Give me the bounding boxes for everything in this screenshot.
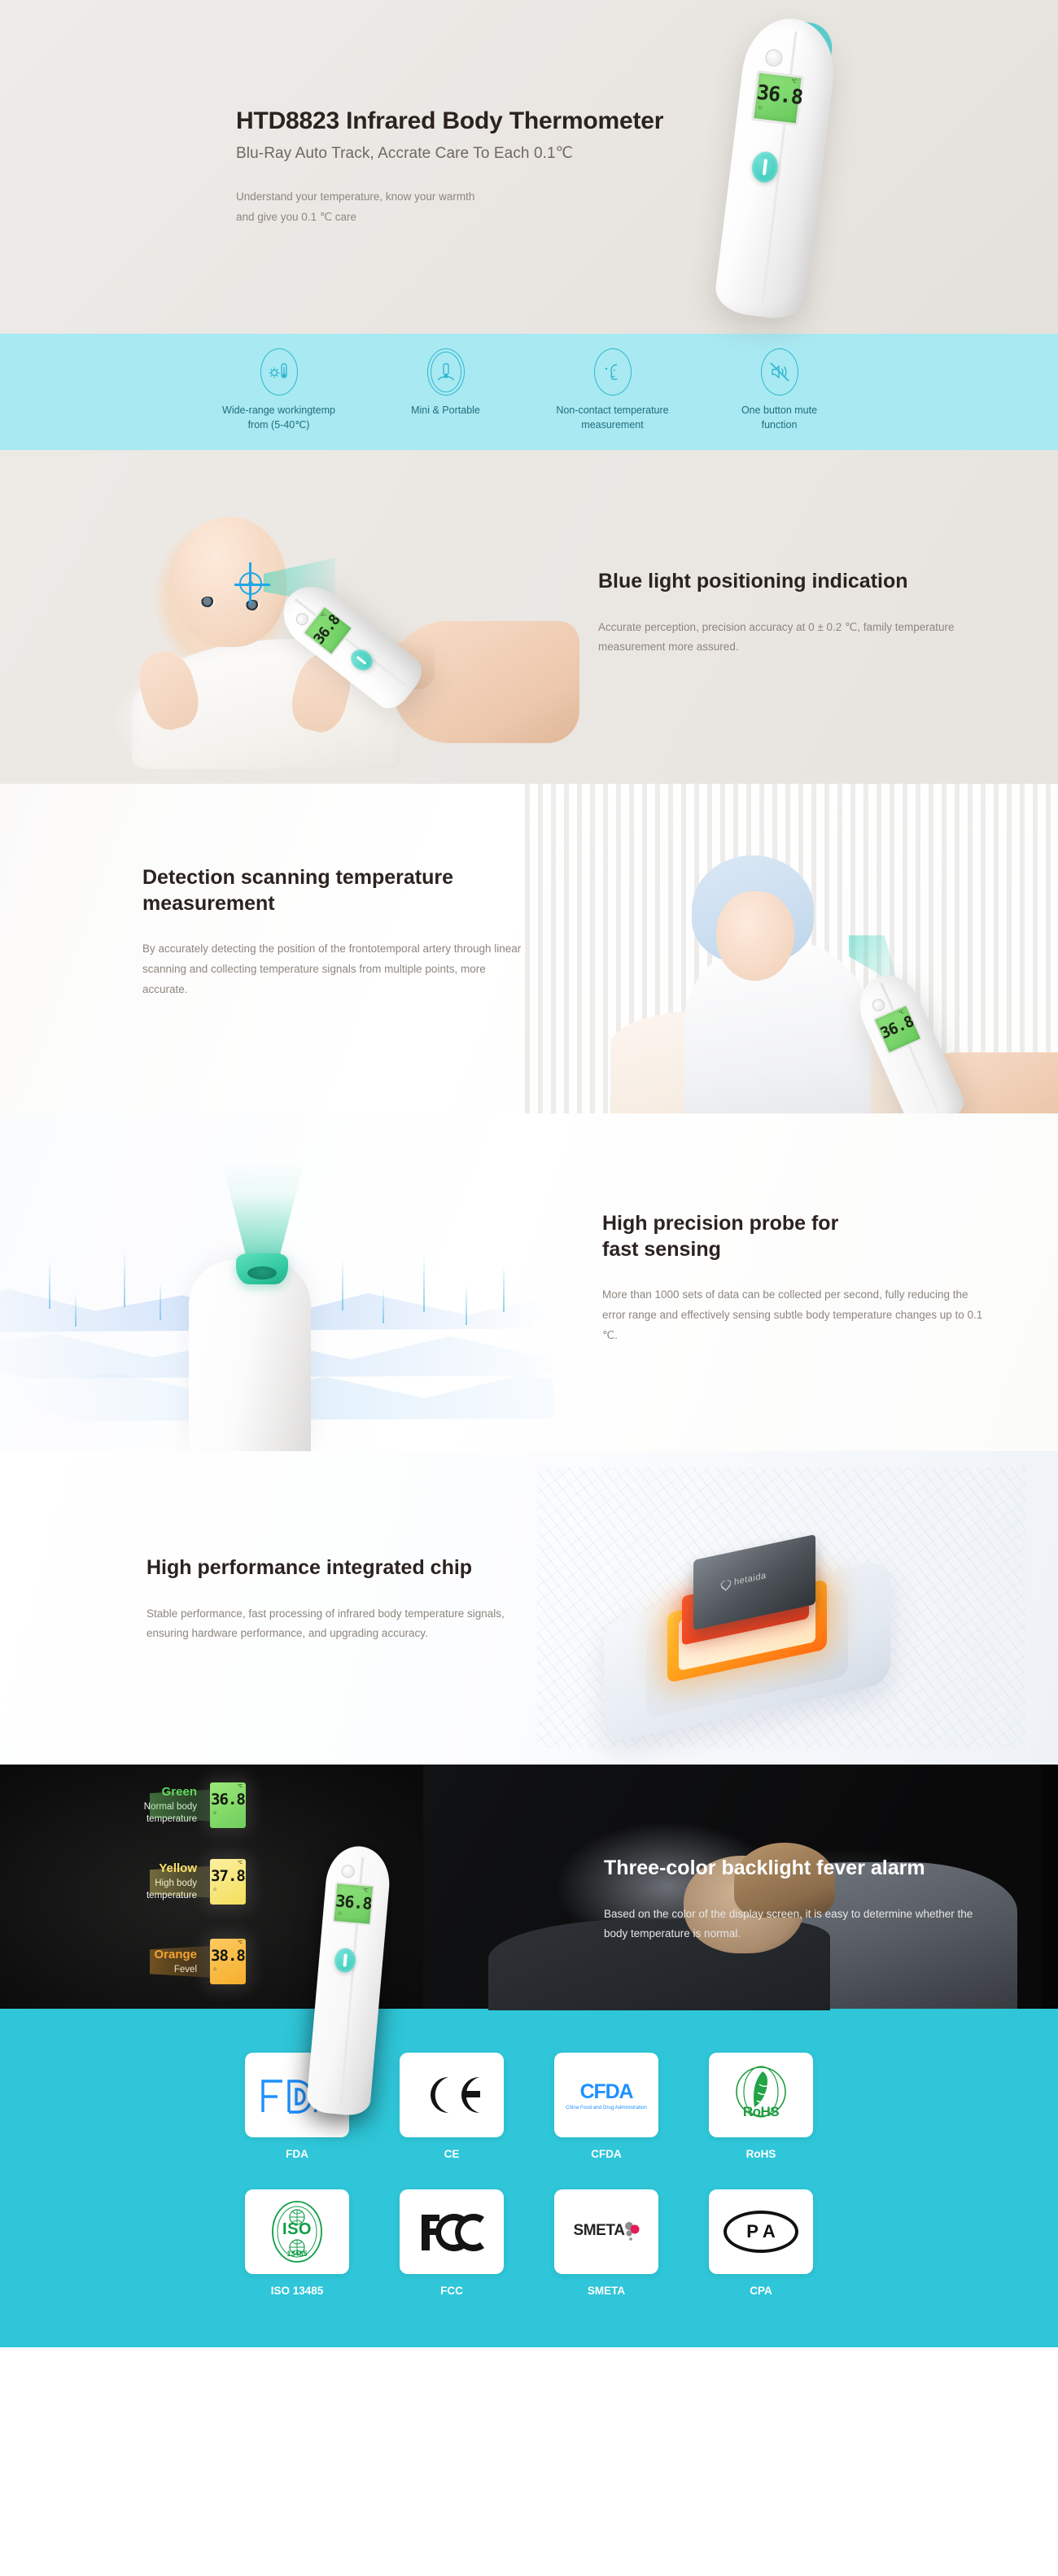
face-scan-icon: [594, 348, 632, 396]
cfda-logo-subtext: China Food and Drug Administration: [566, 2105, 647, 2110]
heading-line-1: High precision probe for: [602, 1211, 985, 1236]
page-title: HTD8823 Infrared Body Thermometer: [236, 107, 663, 135]
alarm-level-list: Green Normal body temperature ℃ 36.8 ☺ Y…: [114, 1779, 301, 2001]
detection-scan-copy: Detection scanning temperature measureme…: [142, 865, 533, 999]
hero-copy: HTD8823 Infrared Body Thermometer Blu-Ra…: [236, 107, 663, 228]
hand-device-icon: [427, 348, 465, 396]
section-detection-scanning: ℃ 36.8 Detection scanning temperature me…: [0, 784, 1058, 1113]
hero-desc-line-2: and give you 0.1 ℃ care: [236, 208, 663, 228]
lcd-unit-label: ℃: [210, 1939, 246, 1945]
baby-measurement-photo: ℃ 36.8: [50, 476, 539, 761]
cfda-logo-icon: CFDA China Food and Drug Administration: [566, 2080, 647, 2110]
integrated-chip-copy: High performance integrated chip Stable …: [146, 1555, 505, 1644]
section-heading: High performance integrated chip: [146, 1555, 505, 1581]
particle: [466, 1284, 467, 1325]
certification-name: SMETA: [554, 2285, 658, 2297]
certification-item-ce: CE: [400, 2053, 504, 2160]
feature-label: One button mute function: [696, 403, 863, 432]
section-certifications: FDA CE: [0, 2009, 1058, 2347]
feature-label: Non-contact temperature measurement: [529, 403, 696, 432]
certification-item-cfda: CFDA China Food and Drug Administration …: [554, 2053, 658, 2160]
feature-one-button-mute: One button mute function: [696, 348, 863, 432]
feature-label: Wide-range workingtemp from (5-40℃): [195, 403, 362, 432]
particle: [160, 1281, 161, 1320]
certification-name: CFDA: [554, 2148, 658, 2160]
certification-logo-card: ISO 13485: [245, 2189, 349, 2274]
thermometer-sun-icon: [260, 348, 298, 396]
smeta-logo-text: SMETA: [573, 2222, 624, 2240]
alarm-lcd-screen: ℃ 36.8 ☺: [210, 1782, 246, 1828]
lcd-mode-icon: ☺: [210, 1887, 246, 1892]
certification-name: CE: [400, 2148, 504, 2160]
thermometer-lcd-screen: ℃ 36.8 ☺: [332, 1882, 374, 1926]
alarm-lcd-screen: ℃ 37.8 ☺: [210, 1859, 246, 1905]
probe-sensor-head: [236, 1253, 288, 1284]
particle: [342, 1258, 343, 1310]
cfda-logo-text: CFDA: [566, 2080, 647, 2104]
lcd-unit-label: ℃: [210, 1859, 246, 1865]
certification-logo-card: CFDA China Food and Drug Administration: [554, 2053, 658, 2137]
heading-line-2: measurement: [142, 891, 533, 916]
blue-light-copy: Blue light positioning indication Accura…: [598, 569, 981, 658]
alarm-level-green: Green Normal body temperature ℃ 36.8 ☺: [114, 1782, 246, 1828]
section-body: Stable performance, fast processing of i…: [146, 1604, 505, 1645]
iso-logo-icon: ISO 13485: [262, 2199, 332, 2264]
iso-logo-text: ISO: [262, 2220, 332, 2239]
certification-name: FCC: [400, 2285, 504, 2297]
certification-item-cpa: P A CPA: [709, 2189, 813, 2297]
hero-thermometer-image: ℃ 36.8 ☺: [713, 14, 840, 322]
heading-line-2: fast sensing: [602, 1237, 985, 1262]
particle: [75, 1292, 77, 1327]
section-fever-alarm: Green Normal body temperature ℃ 36.8 ☺ Y…: [0, 1765, 1058, 2009]
fcc-logo-icon: [418, 2210, 485, 2254]
alarm-level-orange: Orange Fevel ℃ 38.8 ☺: [114, 1939, 246, 1984]
certification-logo-card: RoHS: [709, 2053, 813, 2137]
feature-label: Mini & Portable: [362, 403, 529, 418]
lcd-mode-icon: ☺: [210, 1967, 246, 1972]
rohs-logo-text: RoHS: [727, 2104, 795, 2120]
section-blue-light-positioning: ℃ 36.8 Blue light positioning indication…: [0, 450, 1058, 784]
certification-item-fcc: FCC: [400, 2189, 504, 2297]
alarm-lcd-screen: ℃ 38.8 ☺: [210, 1939, 246, 1984]
adult-hand: [392, 621, 579, 743]
iso-logo-subtext: 13485: [262, 2250, 332, 2258]
ce-logo-icon: [422, 2074, 481, 2116]
lcd-temperature-value: 36.8: [210, 1789, 246, 1811]
probe-device-body: [189, 1260, 311, 1451]
hero-description: Understand your temperature, know your w…: [236, 187, 663, 228]
smeta-logo-dots: [623, 2222, 640, 2241]
certification-name: ISO 13485: [245, 2285, 349, 2297]
certification-name: RoHS: [709, 2148, 813, 2160]
certification-logo-card: [400, 2189, 504, 2274]
lcd-temperature-value: 37.8: [210, 1865, 246, 1887]
particle: [383, 1288, 384, 1323]
section-heading: Blue light positioning indication: [598, 569, 981, 594]
certification-name: CPA: [709, 2285, 813, 2297]
heart-icon: [721, 1579, 731, 1590]
chip-logo-text: hetaida: [734, 1571, 767, 1587]
certification-logo-card: P A: [709, 2189, 813, 2274]
pa-logo-icon: P A: [724, 2211, 798, 2253]
section-body: Based on the color of the display screen…: [604, 1905, 986, 1945]
certification-item-iso: ISO 13485 ISO 13485: [245, 2189, 349, 2297]
thermometer-lcd-screen: ℃ 36.8 ☺: [751, 70, 804, 126]
section-body: More than 1000 sets of data can be colle…: [602, 1285, 985, 1346]
product-detail-page: HTD8823 Infrared Body Thermometer Blu-Ra…: [0, 0, 1058, 2347]
certification-item-smeta: SMETA SMETA: [554, 2189, 658, 2297]
toddler-face: [716, 891, 794, 981]
hero-subtitle: Blu-Ray Auto Track, Accrate Care To Each…: [236, 144, 663, 163]
pa-logo-text: P A: [746, 2221, 775, 2242]
precision-probe-copy: High precision probe for fast sensing Mo…: [602, 1211, 985, 1345]
section-heading: High precision probe for fast sensing: [602, 1211, 985, 1262]
section-heading: Detection scanning temperature measureme…: [142, 865, 533, 916]
feature-mini-portable: Mini & Portable: [362, 348, 529, 432]
section-body: By accurately detecting the position of …: [142, 939, 533, 1000]
smeta-logo-icon: SMETA: [573, 2222, 639, 2241]
chip-brand-logo: hetaida: [721, 1571, 767, 1590]
hero-desc-line-1: Understand your temperature, know your w…: [236, 187, 663, 208]
chip-illustration: hetaida: [586, 1526, 912, 1730]
particle: [423, 1253, 425, 1312]
section-heading: Three-color backlight fever alarm: [604, 1856, 986, 1881]
lcd-unit-label: ℃: [210, 1782, 246, 1789]
lcd-temperature-value: 38.8: [210, 1945, 246, 1967]
section-precision-probe: High precision probe for fast sensing Mo…: [0, 1113, 1058, 1451]
toddler-measurement-photo: ℃ 36.8: [525, 784, 1058, 1113]
lcd-mode-icon: ☺: [210, 1811, 246, 1816]
alarm-level-yellow: Yellow High body temperature ℃ 37.8 ☺: [114, 1859, 246, 1905]
certification-name: FDA: [245, 2148, 349, 2160]
mute-speaker-icon: [761, 348, 798, 396]
hero-section: HTD8823 Infrared Body Thermometer Blu-Ra…: [0, 0, 1058, 334]
certification-item-rohs: RoHS RoHS: [709, 2053, 813, 2160]
section-integrated-chip: hetaida High performance integrated chip…: [0, 1451, 1058, 1765]
heading-line-1: Detection scanning temperature: [142, 865, 533, 890]
feature-wide-range-temp: Wide-range workingtemp from (5-40℃): [195, 348, 362, 432]
feature-non-contact: Non-contact temperature measurement: [529, 348, 696, 432]
rohs-logo-icon: RoHS: [727, 2065, 795, 2125]
particle: [503, 1265, 505, 1312]
certification-logo-card: [400, 2053, 504, 2137]
section-body: Accurate perception, precision accuracy …: [598, 618, 981, 658]
particle: [124, 1250, 125, 1307]
fever-alarm-copy: Three-color backlight fever alarm Based …: [604, 1856, 986, 1944]
feature-highlights-band: Wide-range workingtemp from (5-40℃) Mini…: [0, 334, 1058, 450]
particle: [49, 1260, 50, 1309]
certification-logo-card: SMETA: [554, 2189, 658, 2274]
